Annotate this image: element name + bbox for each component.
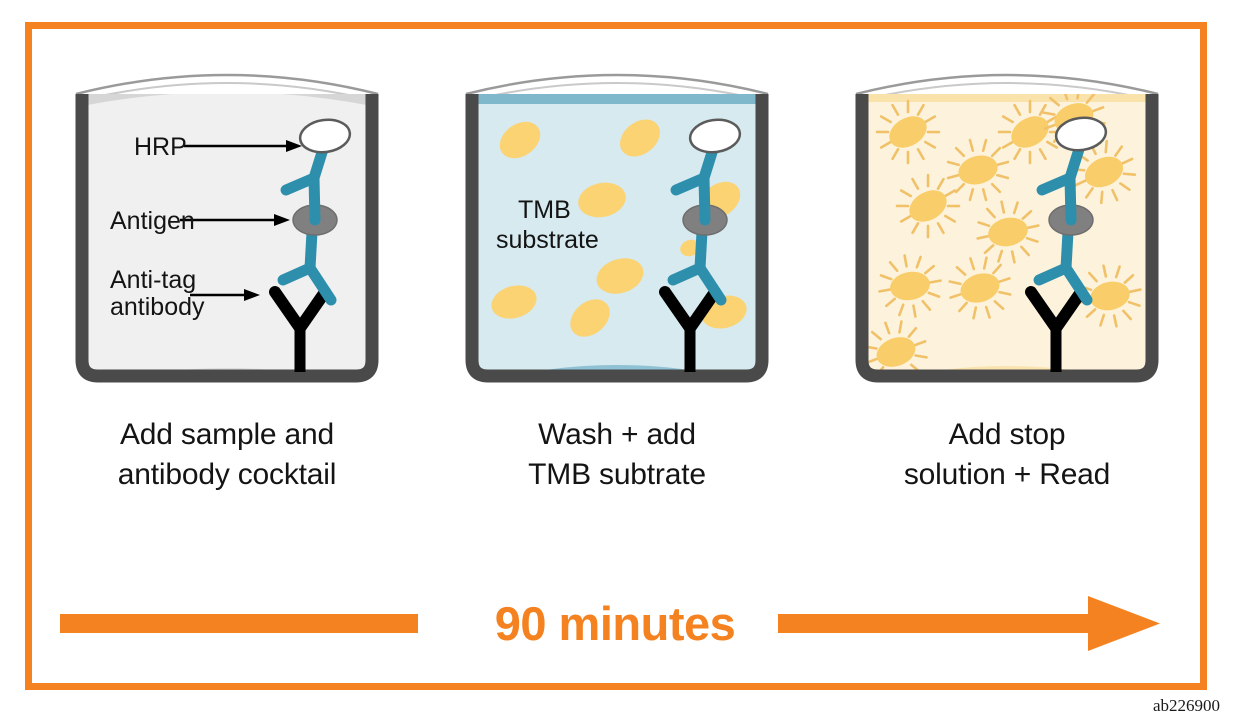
step-2-caption: Wash + add TMB subtrate bbox=[452, 415, 782, 494]
label-anti-tag-antibody-line1: Anti-tag bbox=[110, 266, 196, 294]
well-2-illustration: TMB substrate bbox=[462, 60, 772, 390]
well-3-liquid-surface bbox=[862, 88, 1152, 102]
catalog-code: ab226900 bbox=[1153, 696, 1220, 716]
well-1-illustration: HRP Antigen Anti-tag antibody bbox=[72, 60, 382, 390]
timeline-label: 90 minutes bbox=[60, 578, 1170, 670]
step-3-caption-line1: Add stop bbox=[842, 415, 1172, 455]
step-2-well-group: TMB substrate bbox=[462, 60, 772, 390]
label-tmb-substrate-line2: substrate bbox=[496, 226, 599, 254]
diagram-canvas: HRP Antigen Anti-tag antibody bbox=[0, 0, 1234, 720]
step-3-caption-line2: solution + Read bbox=[842, 455, 1172, 495]
step-2-caption-line2: TMB subtrate bbox=[452, 455, 782, 495]
label-anti-tag-antibody-line2: antibody bbox=[110, 293, 205, 321]
timeline-arrow: 90 minutes bbox=[60, 578, 1170, 670]
well-3-illustration bbox=[852, 60, 1162, 390]
step-1-caption-line1: Add sample and bbox=[62, 415, 392, 455]
step-1-well-group: HRP Antigen Anti-tag antibody bbox=[72, 60, 382, 390]
step-1-caption-line2: antibody cocktail bbox=[62, 455, 392, 495]
label-hrp: HRP bbox=[134, 133, 187, 161]
label-tmb-substrate-line1: TMB bbox=[518, 196, 571, 224]
step-3-well-group bbox=[852, 60, 1162, 390]
label-antigen: Antigen bbox=[110, 207, 195, 235]
step-3-caption: Add stop solution + Read bbox=[842, 415, 1172, 494]
step-1-caption: Add sample and antibody cocktail bbox=[62, 415, 392, 494]
step-2-caption-line1: Wash + add bbox=[452, 415, 782, 455]
